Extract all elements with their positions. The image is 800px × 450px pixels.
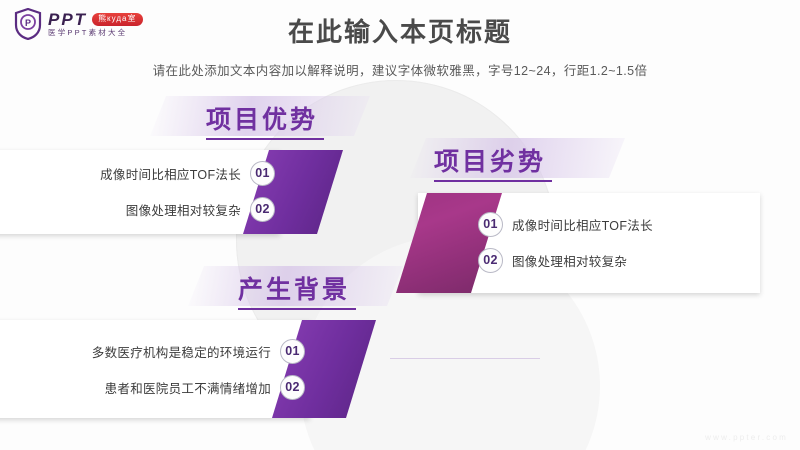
section-3-heading: 产生背景 — [238, 270, 350, 310]
logo-text-block: PPT 熊куда室 医学PPT素材大全 — [48, 11, 143, 37]
section-1-heading: 项目优势 — [206, 100, 318, 140]
brand-logo[interactable]: P PPT 熊куда室 医学PPT素材大全 — [14, 8, 143, 40]
footer-watermark: www.ppter.com — [705, 433, 788, 442]
item-label: 患者和医院员工不满情绪增加 — [105, 378, 271, 397]
shield-icon: P — [14, 8, 42, 40]
item-number: 02 — [478, 248, 503, 273]
section-2-heading: 项目劣势 — [434, 142, 546, 182]
section-3-divider — [390, 358, 540, 359]
list-item[interactable]: 01 成像时间比相应TOF法长 — [478, 206, 728, 242]
item-number: 01 — [250, 161, 275, 186]
list-item[interactable]: 患者和医院员工不满情绪增加 02 — [50, 369, 305, 405]
section-3-items: 多数医疗机构是稳定的环境运行 01 患者和医院员工不满情绪增加 02 — [50, 333, 305, 405]
section-2-items: 01 成像时间比相应TOF法长 02 图像处理相对较复杂 — [478, 206, 728, 278]
list-item[interactable]: 02 图像处理相对较复杂 — [478, 242, 728, 278]
item-number: 01 — [280, 339, 305, 364]
shield-letter: P — [25, 18, 31, 28]
item-number: 02 — [280, 375, 305, 400]
logo-subtitle: 医学PPT素材大全 — [48, 29, 143, 37]
logo-primary-row: PPT 熊куда室 — [48, 11, 143, 28]
list-item[interactable]: 图像处理相对较复杂 02 — [60, 191, 275, 227]
list-item[interactable]: 成像时间比相应TOF法长 01 — [60, 155, 275, 191]
item-number: 01 — [478, 212, 503, 237]
logo-ppt-text: PPT — [48, 11, 87, 28]
page-subtitle: 请在此处添加文本内容加以解释说明，建议字体微软雅黑，字号12~24，行距1.2~… — [0, 60, 800, 79]
item-label: 成像时间比相应TOF法长 — [100, 164, 241, 183]
item-label: 图像处理相对较复杂 — [126, 200, 241, 219]
slide-canvas: P PPT 熊куда室 医学PPT素材大全 在此输入本页标题 请在此处添加文本… — [0, 0, 800, 450]
item-label: 多数医疗机构是稳定的环境运行 — [92, 342, 271, 361]
list-item[interactable]: 多数医疗机构是稳定的环境运行 01 — [50, 333, 305, 369]
item-label: 成像时间比相应TOF法长 — [512, 215, 653, 234]
item-label: 图像处理相对较复杂 — [512, 251, 627, 270]
logo-badge: 熊куда室 — [92, 13, 142, 26]
item-number: 02 — [250, 197, 275, 222]
section-1-items: 成像时间比相应TOF法长 01 图像处理相对较复杂 02 — [60, 155, 275, 227]
